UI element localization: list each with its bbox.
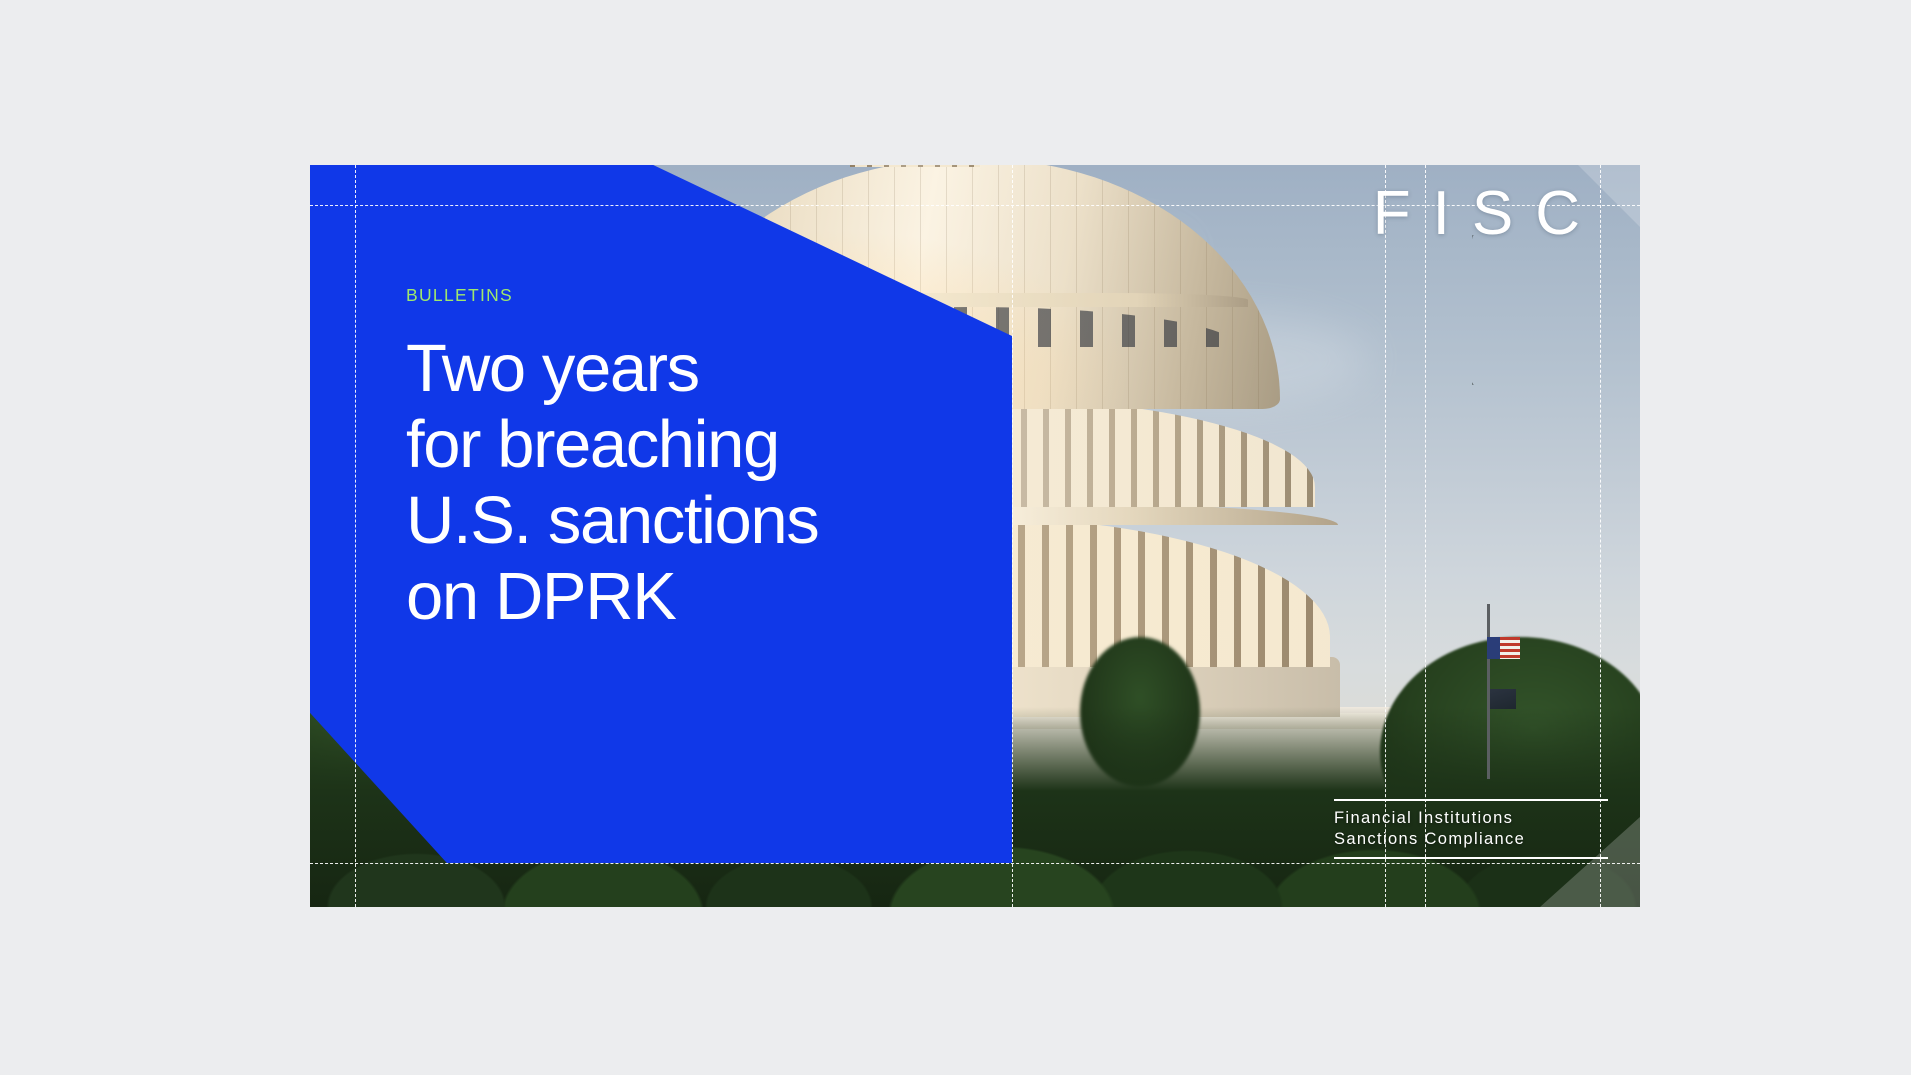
headline-block: BULLETINS Two years for breaching U.S. s…: [406, 287, 966, 635]
page-title: Two years for breaching U.S. sanctions o…: [406, 331, 966, 635]
american-flag-icon: [1487, 637, 1520, 659]
tagline-line-2: Sanctions Compliance: [1334, 829, 1608, 850]
dome-tholos: [850, 165, 980, 167]
page-root: BULLETINS Two years for breaching U.S. s…: [0, 0, 1911, 1075]
brand-tagline-lockup: Financial Institutions Sanctions Complia…: [1334, 799, 1608, 859]
secondary-flag-icon: [1490, 689, 1516, 709]
bare-branch: [1472, 235, 1622, 385]
fisc-wordmark[interactable]: FISC: [1351, 183, 1602, 245]
category-label: BULLETINS: [406, 287, 966, 305]
bulletin-card[interactable]: BULLETINS Two years for breaching U.S. s…: [310, 165, 1640, 907]
tagline-line-1: Financial Institutions: [1334, 808, 1608, 829]
